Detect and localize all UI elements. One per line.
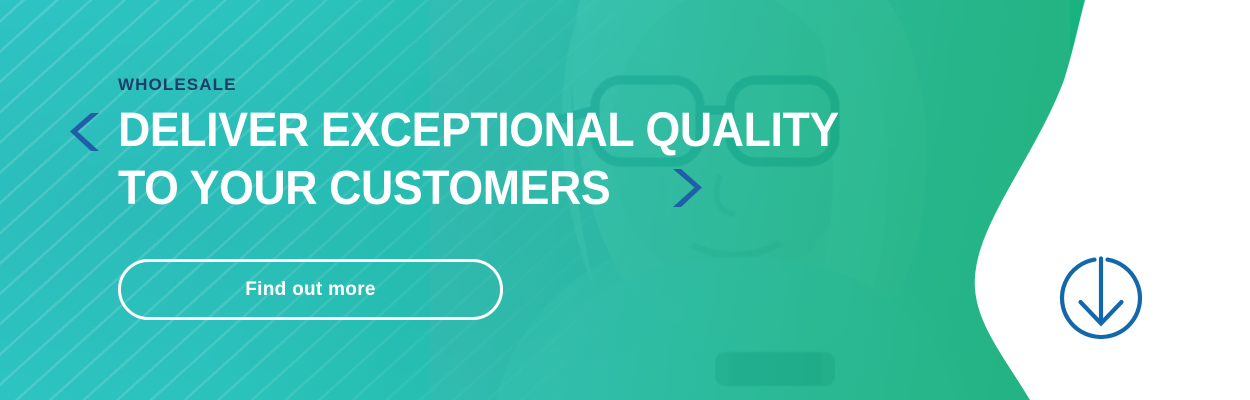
heading-line-2: TO YOUR CUSTOMERS xyxy=(118,160,918,218)
find-out-more-button[interactable]: Find out more xyxy=(118,259,503,320)
chevron-right-icon xyxy=(664,166,706,210)
banner-content: WHOLESALE DELIVER EXCEPTIONAL QUALITY TO… xyxy=(0,0,1000,400)
download-circle-icon[interactable] xyxy=(1056,253,1146,343)
page-title: DELIVER EXCEPTIONAL QUALITY TO YOUR CUST… xyxy=(118,102,978,218)
chevron-left-icon xyxy=(66,110,106,154)
promo-banner: WHOLESALE DELIVER EXCEPTIONAL QUALITY TO… xyxy=(0,0,1250,400)
eyebrow-label: WHOLESALE xyxy=(118,76,237,93)
heading-line-1: DELIVER EXCEPTIONAL QUALITY xyxy=(118,102,918,160)
